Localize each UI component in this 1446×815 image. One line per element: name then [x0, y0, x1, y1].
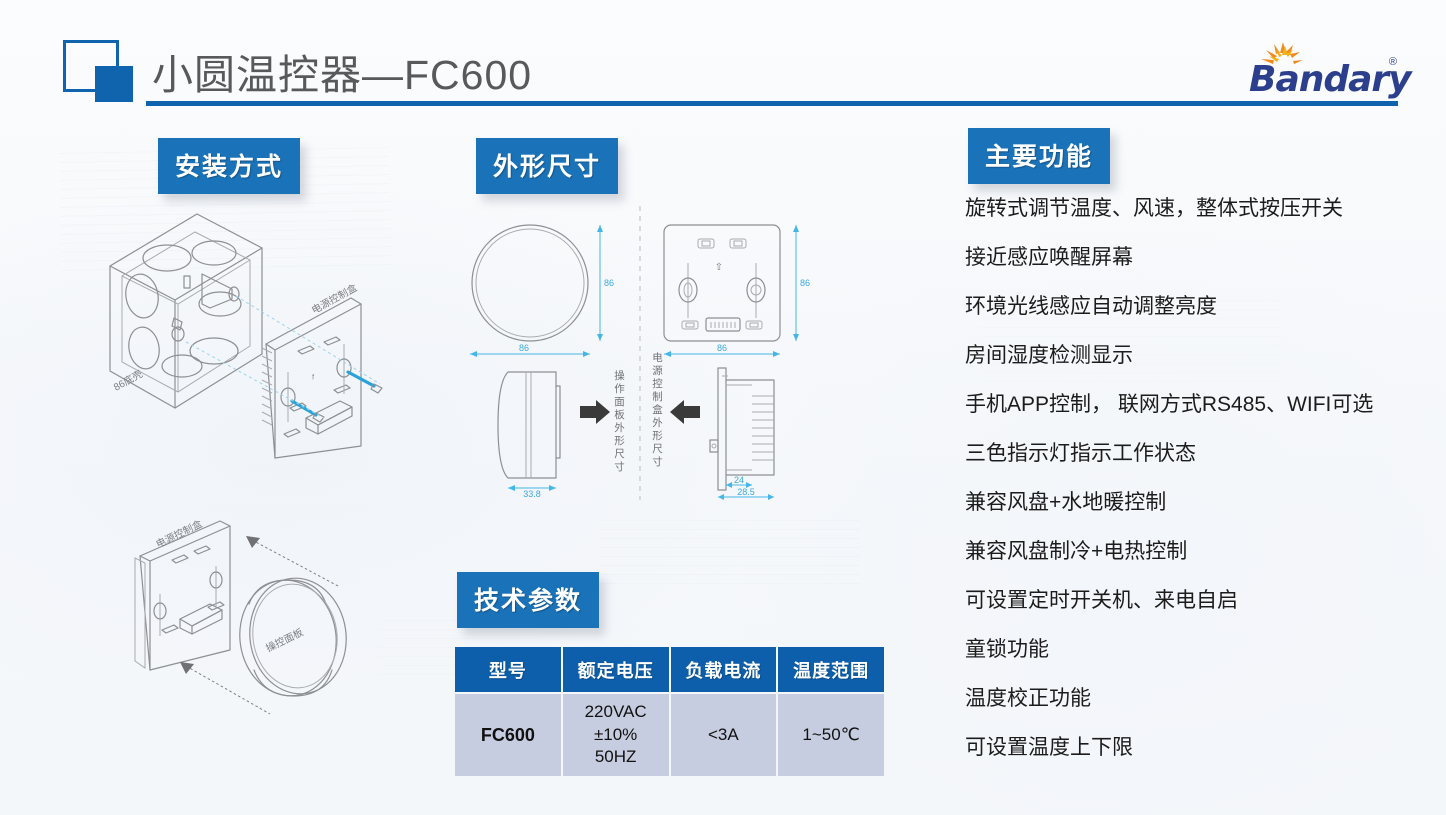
front-view-circle: 86 86 — [470, 225, 614, 357]
control-box-plate-lower: 电源控制盒 — [135, 518, 230, 670]
logo-square-solid-icon — [95, 66, 133, 102]
feature-item: 旋转式调节温度、风速，整体式按压开关 — [965, 198, 1435, 247]
feature-item: 手机APP控制， 联网方式RS485、WIFI可选 — [965, 394, 1435, 443]
control-box-plate: ᶠ 电源控制盒 — [262, 281, 382, 458]
feature-item: 三色指示灯指示工作状态 — [965, 443, 1435, 492]
feature-list: 旋转式调节温度、风速，整体式按压开关 接近感应唤醒屏幕 环境光线感应自动调整亮度… — [965, 198, 1435, 786]
section-badge-dimensions: 外形尺寸 — [476, 138, 618, 194]
svg-text:⇧: ⇧ — [715, 262, 723, 273]
label-panel-dims: 操作面板外形尺寸 — [613, 369, 625, 474]
label-wall-box: 86底壳 — [111, 367, 145, 393]
dim-circle-height: 86 — [604, 278, 614, 288]
dim-box-inner: 24 — [734, 475, 744, 485]
install-diagram-upper: 86底壳 — [62, 196, 422, 466]
section-badge-features: 主要功能 — [968, 128, 1110, 184]
slide-canvas: 小圆温控器—FC600 Bandary ® 安装方式 外形尺寸 主要功 — [0, 0, 1446, 815]
label-control-box-lower: 电源控制盒 — [154, 518, 205, 551]
side-view-panel: 33.8 — [498, 372, 560, 499]
dim-box-outer: 28.5 — [737, 487, 755, 497]
dim-panel-depth: 33.8 — [523, 489, 541, 499]
svg-text:ᶠ: ᶠ — [312, 374, 315, 385]
label-knob-panel: 操控面板 — [264, 625, 306, 654]
table-header-voltage: 额定电压 — [563, 647, 669, 692]
dimension-drawing: 86 86 — [452, 200, 832, 510]
cell-model: FC600 — [455, 694, 561, 776]
registered-trademark-icon: ® — [1389, 56, 1397, 68]
cell-temp-range: 1~50℃ — [778, 694, 884, 776]
voltage-line-2: ±10% — [594, 725, 637, 744]
dim-square-height: 86 — [800, 278, 810, 288]
side-view-control-box: 24 28.5 — [710, 368, 774, 500]
feature-item: 接近感应唤醒屏幕 — [965, 247, 1435, 296]
wall-box-86: 86底壳 — [110, 214, 262, 408]
cell-voltage: 220VAC ±10% 50HZ — [563, 694, 669, 776]
feature-item: 可设置温度上下限 — [965, 737, 1435, 786]
feature-item: 温度校正功能 — [965, 688, 1435, 737]
dim-square-width: 86 — [717, 343, 727, 353]
label-box-dims: 电源控制盒外形尺寸 — [651, 351, 663, 469]
background-watermark — [600, 520, 860, 590]
table-row: FC600 220VAC ±10% 50HZ <3A 1~50℃ — [455, 694, 884, 776]
feature-item: 兼容风盘+水地暖控制 — [965, 492, 1435, 541]
brand-wordmark: Bandary — [1249, 59, 1411, 100]
cell-current: <3A — [671, 694, 777, 776]
brand-logo: Bandary ® — [1249, 44, 1399, 102]
section-badge-install: 安装方式 — [158, 138, 300, 194]
table-header-model: 型号 — [455, 647, 561, 692]
voltage-line-3: 50HZ — [595, 747, 637, 766]
spec-table: 型号 额定电压 负载电流 温度范围 FC600 220VAC ±10% 50HZ… — [453, 645, 886, 778]
install-diagram-lower: 电源控制盒 操控面板 — [102, 518, 392, 733]
voltage-line-1: 220VAC — [585, 702, 647, 721]
feature-item: 兼容风盘制冷+电热控制 — [965, 541, 1435, 590]
page-title: 小圆温控器—FC600 — [152, 41, 532, 101]
feature-item: 房间湿度检测显示 — [965, 345, 1435, 394]
dim-circle-width: 86 — [519, 343, 529, 353]
feature-item: 环境光线感应自动调整亮度 — [965, 296, 1435, 345]
table-header-row: 型号 额定电压 负载电流 温度范围 — [455, 647, 884, 692]
feature-item: 童锁功能 — [965, 639, 1435, 688]
back-view-square: ⇧ 86 86 — [664, 225, 810, 357]
table-header-current: 负载电流 — [671, 647, 777, 692]
round-panel-knob: 操控面板 — [232, 572, 353, 702]
section-badge-specs: 技术参数 — [457, 572, 599, 628]
feature-item: 可设置定时开关机、来电自启 — [965, 590, 1435, 639]
table-header-temp: 温度范围 — [778, 647, 884, 692]
title-divider — [146, 101, 1398, 106]
